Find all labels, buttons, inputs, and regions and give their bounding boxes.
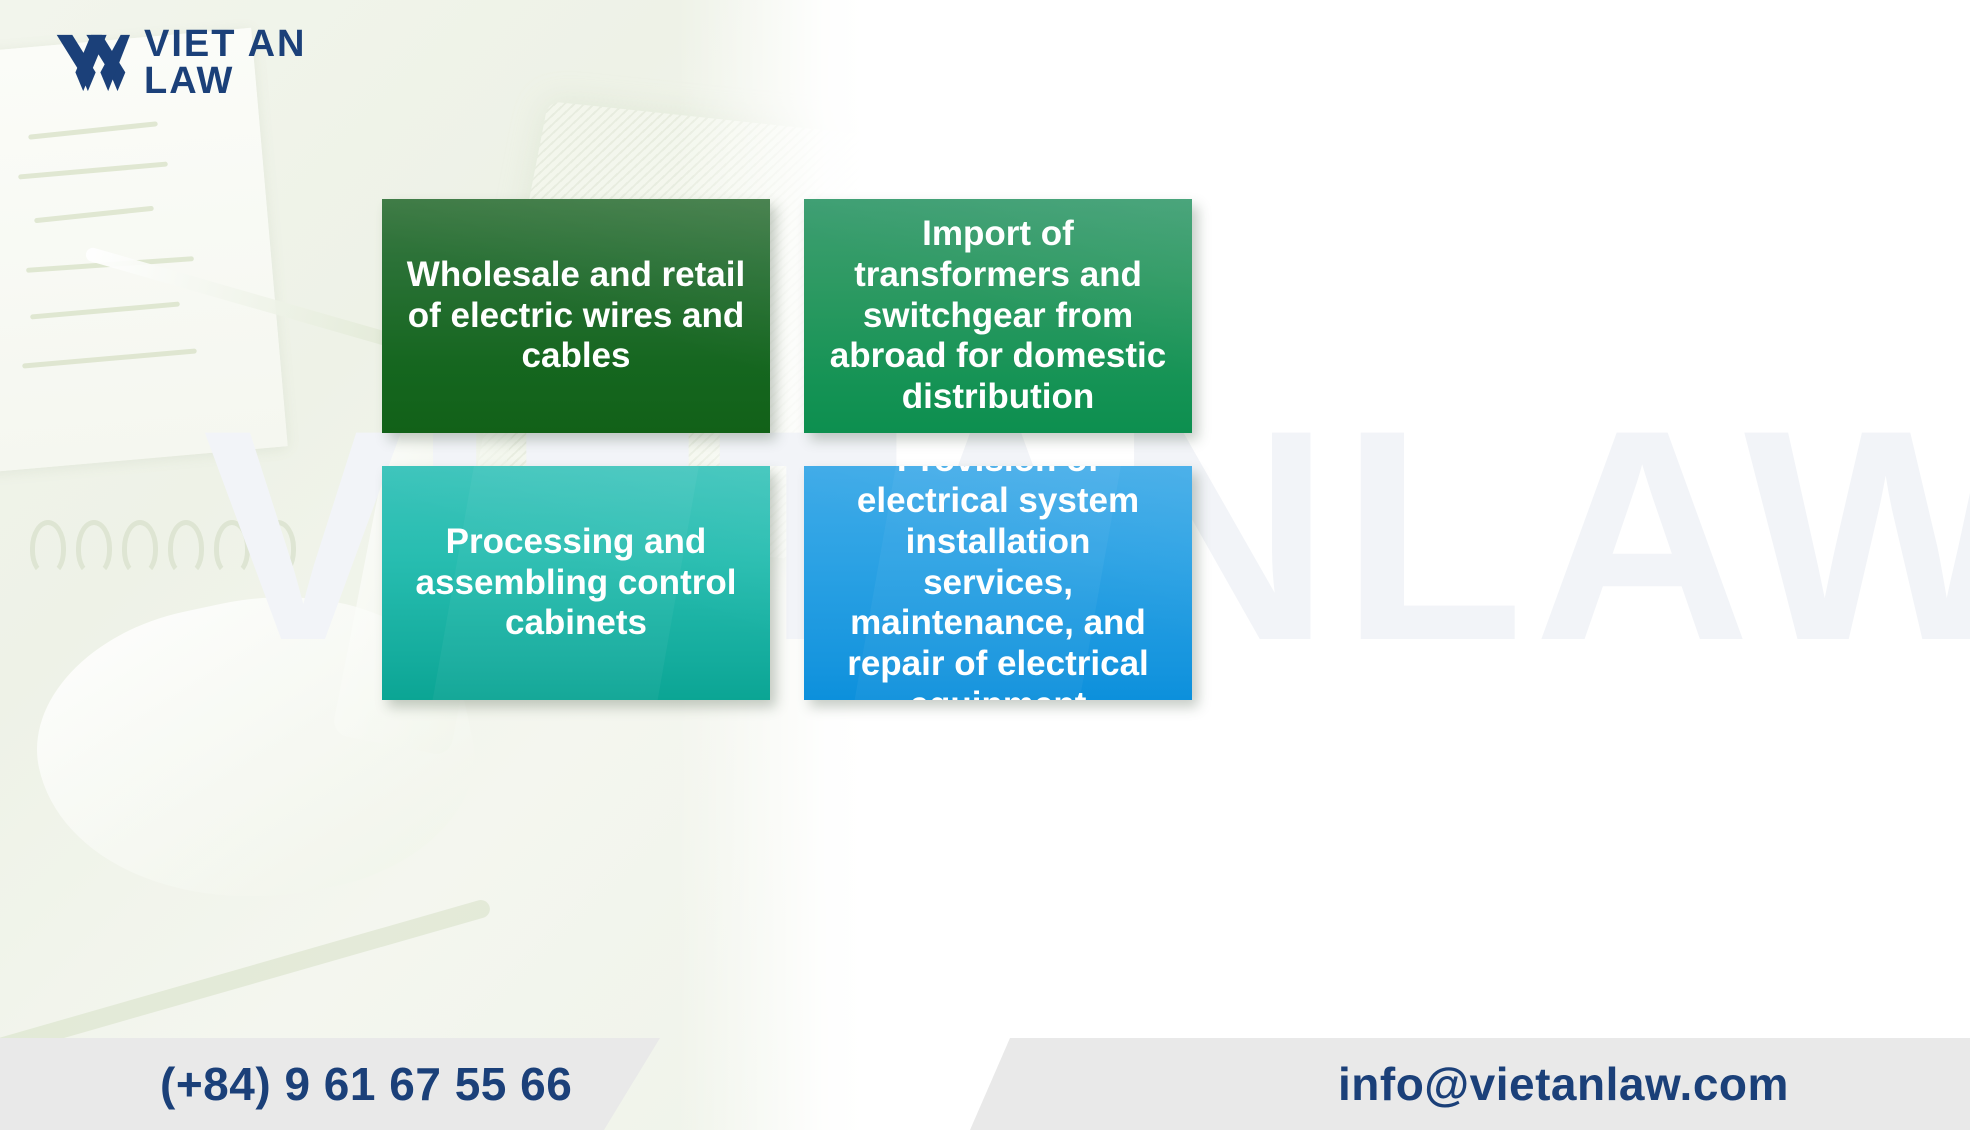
footer-phone-text[interactable]: (+84) 9 61 67 55 66 bbox=[160, 1057, 572, 1111]
brand-name-line1: VIET AN bbox=[144, 23, 307, 65]
footer-phone-banner: (+84) 9 61 67 55 66 bbox=[0, 1038, 660, 1130]
card-label: Import of transformers and switchgear fr… bbox=[826, 214, 1170, 419]
brand-name-line2: LAW bbox=[144, 63, 307, 100]
footer-email-banner: info@vietanlaw.com bbox=[970, 1038, 1970, 1130]
card-row-bottom: Processing and assembling control cabine… bbox=[382, 466, 1192, 700]
card-label: Provision of electrical system installat… bbox=[826, 466, 1170, 700]
card-label: Wholesale and retail of electric wires a… bbox=[404, 255, 748, 378]
double-chevron-x-logo-icon bbox=[52, 24, 130, 102]
footer-email-text[interactable]: info@vietanlaw.com bbox=[1338, 1057, 1789, 1111]
ring bbox=[30, 520, 66, 576]
ring bbox=[168, 520, 204, 576]
card-label: Processing and assembling control cabine… bbox=[404, 522, 748, 645]
business-lines-grid: Wholesale and retail of electric wires a… bbox=[382, 199, 1192, 700]
card-installation-services[interactable]: Provision of electrical system installat… bbox=[804, 466, 1192, 700]
ring bbox=[76, 520, 112, 576]
ring bbox=[122, 520, 158, 576]
brand-wordmark: VIET AN LAW bbox=[144, 26, 307, 100]
card-processing-assembling[interactable]: Processing and assembling control cabine… bbox=[382, 466, 770, 700]
card-import-transformers[interactable]: Import of transformers and switchgear fr… bbox=[804, 199, 1192, 433]
card-wholesale-retail[interactable]: Wholesale and retail of electric wires a… bbox=[382, 199, 770, 433]
card-row-top: Wholesale and retail of electric wires a… bbox=[382, 199, 1192, 433]
brand-logo: VIET AN LAW bbox=[52, 24, 307, 102]
slide-canvas: VIETANLAW VIET AN LAW Wholesale and reta… bbox=[0, 0, 1970, 1130]
